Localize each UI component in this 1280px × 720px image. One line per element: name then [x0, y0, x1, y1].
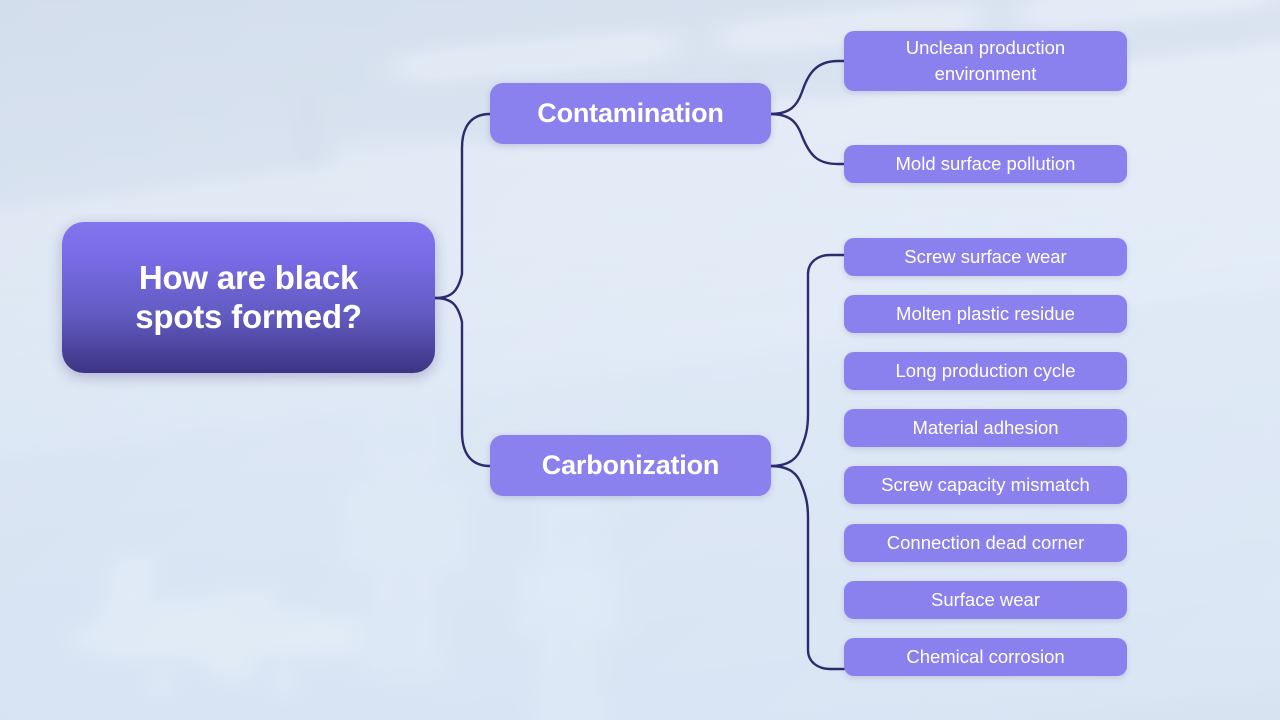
leaf-node[interactable]: Screw surface wear [844, 238, 1127, 276]
connector-carbonization-to-leaf-first [770, 255, 844, 466]
connector-root-to-contamination [435, 114, 490, 298]
leaf-node-label: Unclean production environment [906, 35, 1065, 86]
branch-node-label: Carbonization [542, 450, 719, 481]
leaf-node-label: Chemical corrosion [906, 644, 1064, 670]
leaf-node-label: Screw capacity mismatch [881, 472, 1090, 498]
root-node-label-line2: spots formed? [135, 298, 362, 337]
leaf-node[interactable]: Chemical corrosion [844, 638, 1127, 676]
mindmap-canvas: How are black spots formed? Contaminatio… [0, 0, 1280, 720]
leaf-node[interactable]: Long production cycle [844, 352, 1127, 390]
leaf-node[interactable]: Mold surface pollution [844, 145, 1127, 183]
leaf-node[interactable]: Surface wear [844, 581, 1127, 619]
root-node-label-line1: How are black [135, 259, 362, 298]
leaf-node-label-line1: Unclean production [906, 35, 1065, 61]
leaf-node[interactable]: Screw capacity mismatch [844, 466, 1127, 504]
leaf-node-label: Surface wear [931, 587, 1040, 613]
leaf-node-label: Molten plastic residue [896, 301, 1075, 327]
leaf-node[interactable]: Connection dead corner [844, 524, 1127, 562]
leaf-node-label: Mold surface pollution [896, 151, 1076, 177]
root-node[interactable]: How are black spots formed? [62, 222, 435, 373]
leaf-node-label: Long production cycle [896, 358, 1076, 384]
connector-contamination-to-leaf-2 [770, 114, 844, 164]
leaf-node[interactable]: Unclean production environment [844, 31, 1127, 91]
connector-root-to-carbonization [435, 298, 490, 466]
connector-contamination-to-leaf-1 [770, 61, 844, 114]
leaf-node[interactable]: Material adhesion [844, 409, 1127, 447]
leaf-node-label: Material adhesion [912, 415, 1058, 441]
branch-node-carbonization[interactable]: Carbonization [490, 435, 771, 496]
connector-carbonization-to-leaf-last [770, 466, 844, 669]
leaf-node-label: Connection dead corner [887, 530, 1084, 556]
branch-node-contamination[interactable]: Contamination [490, 83, 771, 144]
leaf-node-label: Screw surface wear [904, 244, 1066, 270]
branch-node-label: Contamination [537, 98, 723, 129]
leaf-node[interactable]: Molten plastic residue [844, 295, 1127, 333]
root-node-label: How are black spots formed? [135, 259, 362, 337]
leaf-node-label-line2: environment [906, 61, 1065, 87]
